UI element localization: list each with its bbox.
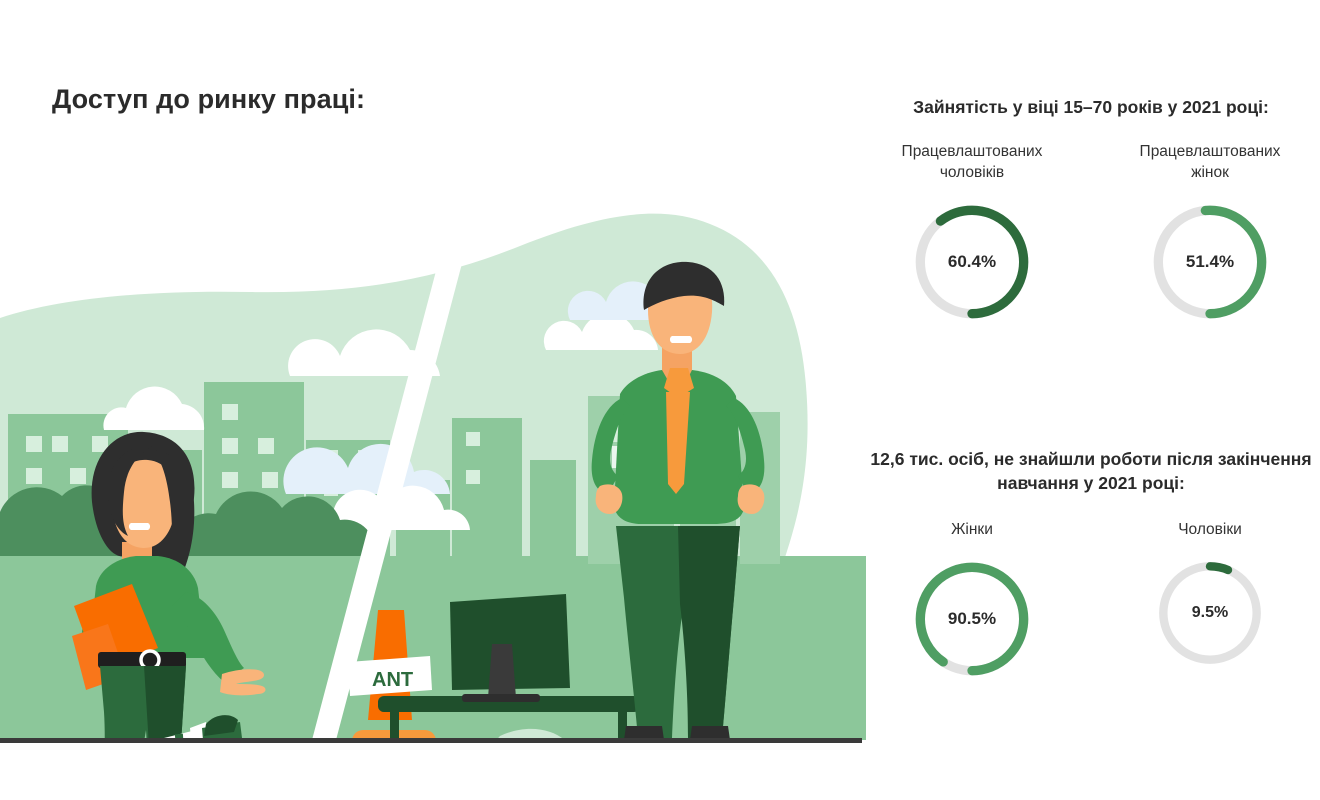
- donut-unemployed-men-value: 9.5%: [1154, 557, 1266, 669]
- donut-employed-men-label: Працевлаштованих чоловіків: [892, 142, 1052, 184]
- section-unemployed-heading: 12,6 тис. осіб, не знайшли роботи після …: [862, 448, 1320, 496]
- svg-text:ANT: ANT: [372, 669, 413, 691]
- monitor: [450, 594, 570, 702]
- donut-unemployed-women-ring: 90.5%: [910, 557, 1034, 681]
- section-unemployed: 12,6 тис. осіб, не знайшли роботи після …: [862, 448, 1320, 681]
- vacant-sign: ANT: [348, 656, 432, 696]
- illustration-panel: ANT: [0, 150, 866, 750]
- donut-employed-women-value: 51.4%: [1148, 200, 1272, 324]
- infographic-page: Доступ до ринку праці:: [0, 0, 1320, 800]
- donut-employed-men: Працевлаштованих чоловіків 60.4%: [892, 142, 1052, 324]
- ground-line: [0, 738, 862, 743]
- donut-unemployed-women: Жінки 90.5%: [892, 520, 1052, 681]
- donut-employed-women: Працевлаштованих жінок 51.4%: [1130, 142, 1290, 324]
- donut-unemployed-men: Чоловіки 9.5%: [1130, 520, 1290, 681]
- donut-employed-women-ring: 51.4%: [1148, 200, 1272, 324]
- donut-unemployed-men-ring: 9.5%: [1154, 557, 1266, 669]
- donut-employed-men-ring: 60.4%: [910, 200, 1034, 324]
- unemployed-donuts: Жінки 90.5% Чоловіки: [862, 520, 1320, 681]
- donut-employed-women-label: Працевлаштованих жінок: [1130, 142, 1290, 184]
- donut-employed-men-value: 60.4%: [910, 200, 1034, 324]
- donut-unemployed-women-value: 90.5%: [910, 557, 1034, 681]
- donut-unemployed-women-label: Жінки: [951, 520, 993, 541]
- donut-unemployed-men-label: Чоловіки: [1178, 520, 1242, 541]
- employment-donuts: Працевлаштованих чоловіків 60.4% Працевл…: [862, 142, 1320, 324]
- section-employment-heading: Зайнятість у віці 15–70 років у 2021 роц…: [862, 96, 1320, 120]
- statistics-column: Зайнятість у віці 15–70 років у 2021 роц…: [862, 96, 1320, 756]
- section-employment: Зайнятість у віці 15–70 років у 2021 роц…: [862, 96, 1320, 324]
- page-title: Доступ до ринку праці:: [52, 84, 365, 115]
